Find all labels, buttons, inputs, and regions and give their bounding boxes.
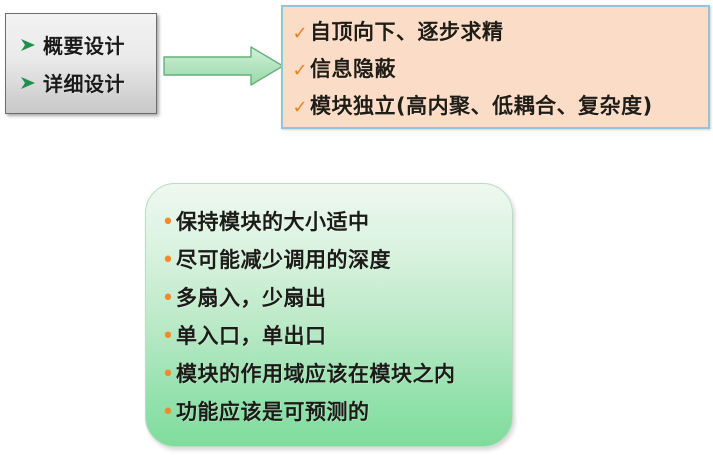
check-icon: ✓ <box>290 25 310 43</box>
principle-item-1[interactable]: ✓ 信息隐蔽 <box>290 53 708 90</box>
guideline-label: 多扇入，少扇出 <box>176 282 327 312</box>
green-arrow-icon <box>18 73 38 93</box>
principle-label: 自顶向下、逐步求精 <box>310 16 504 46</box>
check-icon: ✓ <box>290 99 310 117</box>
design-phase-label: 概要设计 <box>43 30 125 59</box>
design-phase-item-1[interactable]: 详细设计 <box>18 64 156 102</box>
dot-icon: • <box>160 364 176 386</box>
principle-item-0[interactable]: ✓ 自顶向下、逐步求精 <box>290 16 708 53</box>
guideline-label: 尽可能减少调用的深度 <box>176 244 391 274</box>
design-phase-item-0[interactable]: 概要设计 <box>18 26 156 64</box>
principle-label: 模块独立(高内聚、低耦合、复杂度) <box>310 90 653 120</box>
guideline-item-4[interactable]: • 模块的作用域应该在模块之内 <box>160 358 512 396</box>
guideline-label: 功能应该是可预测的 <box>176 396 370 426</box>
design-phases-box: 概要设计 详细设计 <box>5 13 157 114</box>
guideline-label: 保持模块的大小适中 <box>176 206 370 236</box>
principle-item-2[interactable]: ✓ 模块独立(高内聚、低耦合、复杂度) <box>290 90 708 127</box>
design-phase-label: 详细设计 <box>43 68 125 97</box>
dot-icon: • <box>160 288 176 310</box>
guideline-item-3[interactable]: • 单入口，单出口 <box>160 320 512 358</box>
guideline-item-1[interactable]: • 尽可能减少调用的深度 <box>160 244 512 282</box>
dot-icon: • <box>160 402 176 424</box>
right-block-arrow-icon <box>163 44 285 88</box>
module-guidelines-box: • 保持模块的大小适中 • 尽可能减少调用的深度 • 多扇入，少扇出 • 单入口… <box>145 183 513 447</box>
dot-icon: • <box>160 250 176 272</box>
guideline-item-0[interactable]: • 保持模块的大小适中 <box>160 206 512 244</box>
dot-icon: • <box>160 326 176 348</box>
guideline-label: 单入口，单出口 <box>176 320 327 350</box>
principle-label: 信息隐蔽 <box>310 53 396 83</box>
guideline-item-5[interactable]: • 功能应该是可预测的 <box>160 396 512 434</box>
guideline-label: 模块的作用域应该在模块之内 <box>176 358 456 388</box>
dot-icon: • <box>160 212 176 234</box>
design-principles-box: ✓ 自顶向下、逐步求精 ✓ 信息隐蔽 ✓ 模块独立(高内聚、低耦合、复杂度) <box>281 5 710 129</box>
green-arrow-icon <box>18 35 38 55</box>
guideline-item-2[interactable]: • 多扇入，少扇出 <box>160 282 512 320</box>
check-icon: ✓ <box>290 62 310 80</box>
